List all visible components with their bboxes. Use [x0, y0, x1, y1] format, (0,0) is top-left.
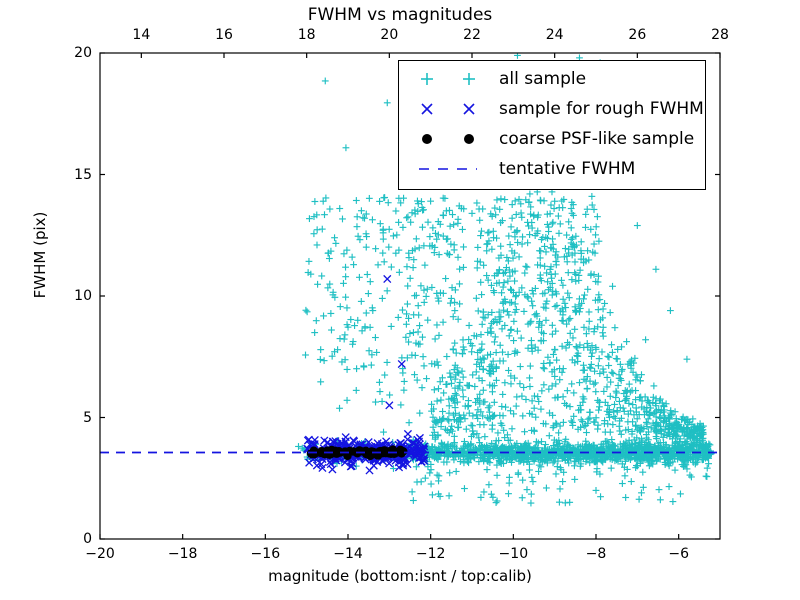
legend-label-all-sample: all sample	[499, 64, 586, 94]
x-tick-bottom: −10	[499, 546, 529, 562]
x-tick-bottom: −18	[168, 546, 198, 562]
y-tick: 5	[62, 410, 92, 426]
legend-label-tentative-fwhm: tentative FWHM	[499, 154, 635, 184]
legend-symbol-plus	[405, 64, 495, 94]
y-tick: 20	[62, 45, 92, 61]
x-tick-bottom: −12	[416, 546, 446, 562]
y-tick: 10	[62, 288, 92, 304]
x-tick-top: 24	[546, 27, 564, 43]
legend-row: tentative FWHM	[399, 154, 707, 184]
x-tick-bottom: −6	[668, 546, 689, 562]
x-tick-top: 28	[711, 27, 729, 43]
x-tick-top: 22	[463, 27, 481, 43]
legend: all sample sample for rough FWHM coarse …	[398, 60, 706, 190]
legend-symbol-dashed-line	[405, 154, 495, 184]
legend-label-rough-fwhm: sample for rough FWHM	[499, 94, 704, 124]
x-tick-top: 20	[380, 27, 398, 43]
figure-canvas: FWHM vs magnitudes magnitude (bottom:isn…	[0, 0, 800, 600]
legend-row: coarse PSF-like sample	[399, 124, 707, 154]
x-tick-top: 16	[215, 27, 233, 43]
legend-label-coarse-psf: coarse PSF-like sample	[499, 124, 694, 154]
x-tick-bottom: −14	[333, 546, 363, 562]
x-tick-top: 14	[132, 27, 150, 43]
y-tick: 15	[62, 167, 92, 183]
x-tick-bottom: −20	[85, 546, 115, 562]
legend-row: sample for rough FWHM	[399, 94, 707, 124]
legend-symbol-dot	[405, 124, 495, 154]
x-tick-bottom: −16	[251, 546, 281, 562]
legend-symbol-x	[405, 94, 495, 124]
y-tick: 0	[62, 531, 92, 547]
x-tick-top: 26	[628, 27, 646, 43]
x-tick-top: 18	[298, 27, 316, 43]
x-tick-bottom: −8	[586, 546, 607, 562]
legend-row: all sample	[399, 64, 707, 94]
